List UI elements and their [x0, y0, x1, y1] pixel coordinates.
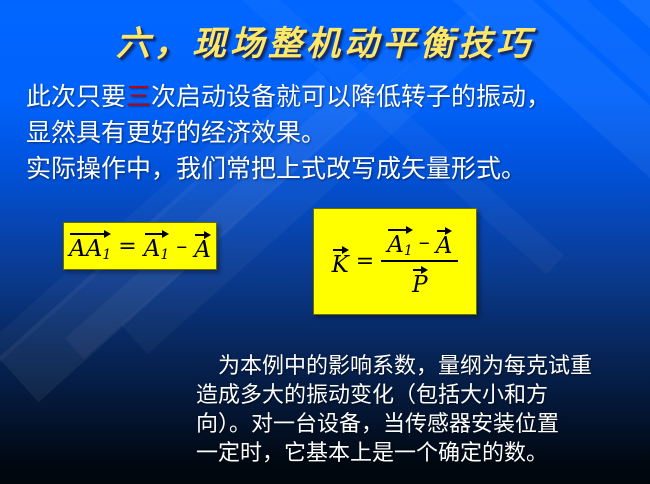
body-top-line-1-part-a: 此次只要: [26, 82, 126, 111]
fraction: A1 – A P: [381, 226, 458, 297]
minus-sign: –: [417, 230, 432, 255]
body-bottom-line-4: 一定时，它基本上是一个确定的数。: [196, 439, 646, 468]
equals-sign: =: [116, 234, 138, 259]
body-bottom-line-1: 为本例中的影响系数，量纲为每克试重: [196, 352, 646, 381]
formula-2-row: K = A1 – A P: [332, 226, 459, 297]
vector-A1: A1: [387, 226, 413, 258]
body-top-line-3: 实际操作中，我们常把上式改写成矢量形式。: [26, 151, 626, 187]
body-top-line-1-part-b: 次启动设备就可以降低转子的振动，: [151, 82, 551, 111]
vector-AA1: AA1: [69, 230, 111, 262]
equals-sign: =: [354, 249, 376, 274]
vector-A1: A1: [144, 230, 170, 262]
formula-1-equation: AA1 = A1 – A: [64, 223, 216, 269]
vector-A: A: [194, 231, 211, 262]
body-top-highlight-char: 三: [126, 82, 151, 111]
body-text-bottom: 为本例中的影响系数，量纲为每克试重 造成多大的振动变化（包括大小和方 向）。对一…: [196, 352, 646, 468]
body-top-line-2: 显然具有更好的经济效果。: [26, 115, 626, 151]
vector-K: K: [332, 246, 349, 277]
formula-box-vector-difference: AA1 = A1 – A: [63, 222, 217, 270]
formula-1-row: AA1 = A1 – A: [69, 230, 211, 262]
formula-box-influence-coefficient: K = A1 – A P: [313, 208, 477, 315]
body-text-top: 此次只要三次启动设备就可以降低转子的振动， 显然具有更好的经济效果。 实际操作中…: [26, 79, 626, 187]
slide-canvas: 六，现场整机动平衡技巧 此次只要三次启动设备就可以降低转子的振动， 显然具有更好…: [0, 0, 650, 484]
body-top-line-1: 此次只要三次启动设备就可以降低转子的振动，: [26, 79, 626, 115]
vector-A: A: [436, 227, 453, 258]
slide-title: 六，现场整机动平衡技巧: [0, 16, 650, 65]
vector-P: P: [412, 266, 427, 297]
formula-2-equation: K = A1 – A P: [314, 209, 476, 314]
body-bottom-line-3: 向）。对一台设备，当传感器安装位置: [196, 410, 646, 439]
fraction-numerator: A1 – A: [381, 226, 458, 260]
body-bottom-line-2: 造成多大的振动变化（包括大小和方: [196, 381, 646, 410]
fraction-denominator: P: [406, 262, 433, 297]
minus-sign: –: [174, 234, 189, 259]
